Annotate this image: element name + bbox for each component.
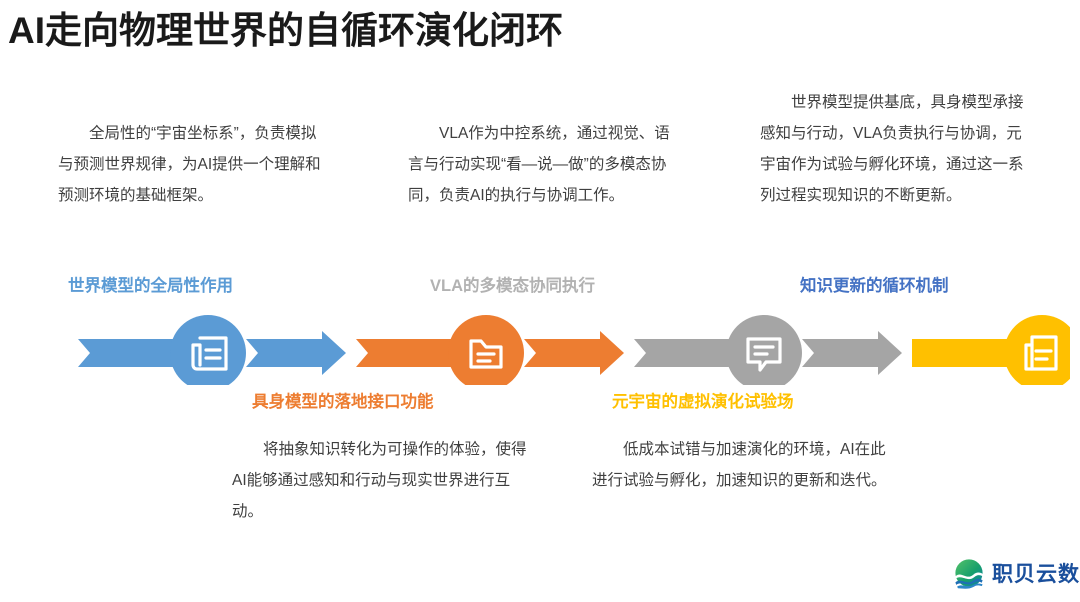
flow-caption-world-model: 世界模型的全局性作用 <box>68 272 233 296</box>
flow-circle-2[interactable] <box>448 315 524 385</box>
flow-segment-4 <box>912 315 1070 385</box>
flow-segment-1 <box>78 315 346 385</box>
flow-caption-knowledge: 知识更新的循环机制 <box>800 272 949 296</box>
process-flow-chain <box>60 305 1070 385</box>
description-text-world-model: 全局性的“宇宙坐标系”，负责模拟与预测世界规律，为AI提供一个理解和预测环境的基… <box>58 118 326 211</box>
description-text-metaverse: 低成本试错与加速演化的环境，AI在此进行试验与孵化，加速知识的更新和迭代。 <box>592 434 897 496</box>
flow-ribbon-1 <box>78 339 178 367</box>
flow-caption-metaverse: 元宇宙的虚拟演化试验场 <box>612 388 794 412</box>
brand-logo-text: 职贝云数 <box>992 558 1080 588</box>
description-text-embodied: 将抽象知识转化为可操作的体验，使得AI能够通过感知和行动与现实世界进行互动。 <box>232 434 532 527</box>
flow-circle-3[interactable] <box>726 315 802 385</box>
flow-arrow-1 <box>246 331 346 375</box>
flow-segment-2 <box>356 315 624 385</box>
flow-ribbon-2 <box>356 339 456 367</box>
flow-arrow-2 <box>524 331 624 375</box>
flow-caption-embodied: 具身模型的落地接口功能 <box>252 388 434 412</box>
description-text-knowledge: 世界模型提供基底，具身模型承接感知与行动，VLA负责执行与协调，元宇宙作为试验与… <box>760 87 1025 211</box>
description-text-vla: VLA作为中控系统，通过视觉、语言与行动实现“看—说—做”的多模态协同，负责AI… <box>408 118 673 211</box>
flow-segment-3 <box>634 315 902 385</box>
flow-ribbon-3 <box>634 339 734 367</box>
flow-caption-vla: VLA的多模态协同执行 <box>430 272 595 296</box>
flow-ribbon-4 <box>912 339 1012 367</box>
flow-arrow-3 <box>802 331 902 375</box>
brand-logo: 职贝云数 <box>952 556 1080 590</box>
page-title: AI走向物理世界的自循环演化闭环 <box>8 8 563 54</box>
wave-circle-icon <box>952 556 986 590</box>
